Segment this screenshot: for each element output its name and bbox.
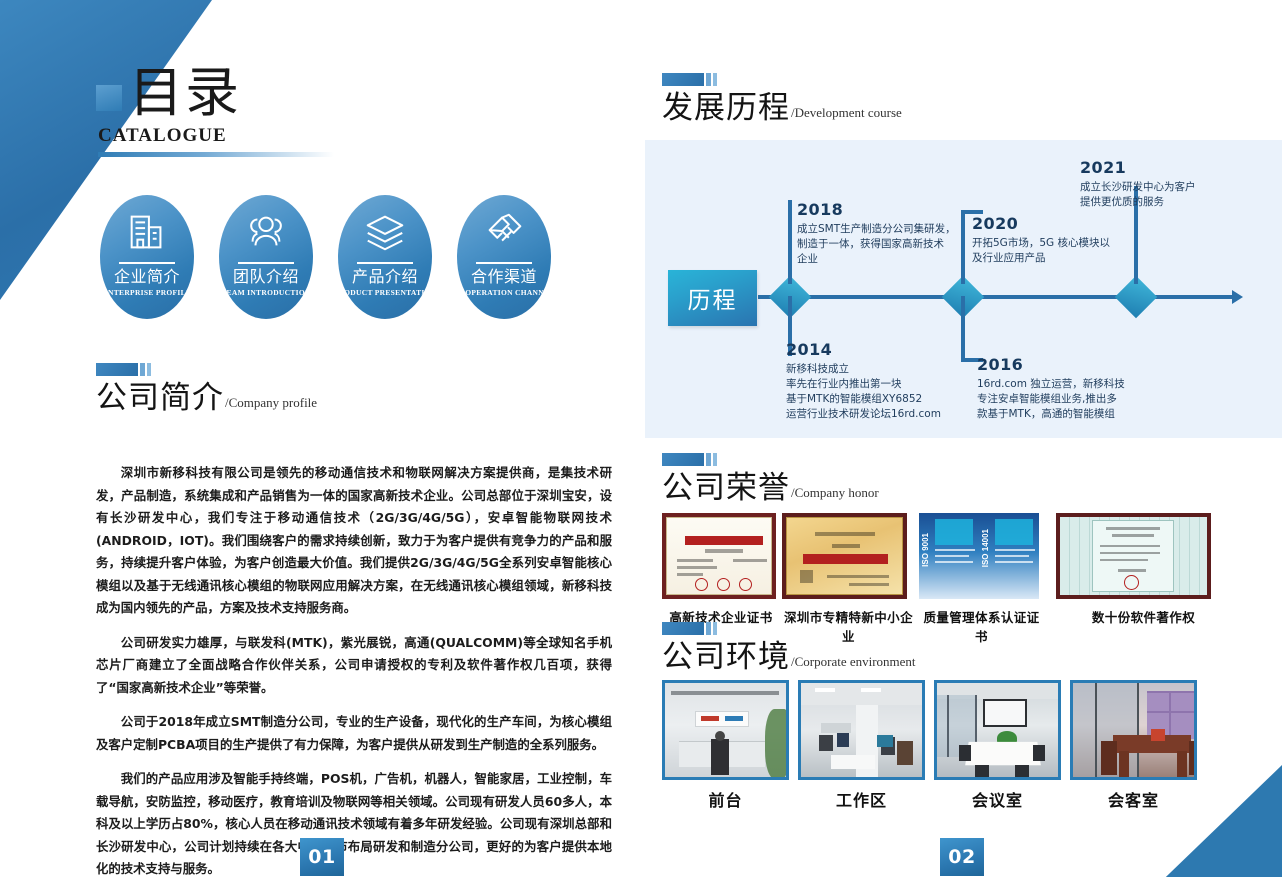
- timeline-year-2020: 2020: [972, 214, 1018, 233]
- catalogue-label-cn: 合作渠道: [471, 267, 537, 286]
- timeline-stem-up: [788, 200, 792, 284]
- timeline-stem-up: [961, 210, 965, 284]
- catalogue-item-product-presentation[interactable]: 产品介绍 PRODUCT PRESENTATION: [338, 195, 432, 319]
- environment-item[interactable]: 会客室: [1070, 680, 1197, 811]
- environment-photo-reception: [662, 680, 789, 780]
- catalogue-label-en: PRODUCT PRESENTATION: [338, 288, 432, 297]
- catalogue-square-marker: [96, 85, 122, 111]
- environment-caption: 会客室: [1070, 787, 1197, 811]
- honor-item[interactable]: ISO 9001 ISO 14001 质量管理体系认证证书: [919, 513, 1044, 645]
- team-people-icon: [243, 209, 289, 255]
- handshake-icon: [481, 209, 527, 255]
- certificate-image-high-tech: [662, 513, 776, 599]
- development-course-title-cn: 发展历程: [662, 90, 790, 126]
- company-honor-header: 公司荣誉 /Company honor: [662, 453, 879, 506]
- catalogue-label-cn: 产品介绍: [352, 267, 418, 286]
- oval-divider: [357, 262, 413, 264]
- timeline-year-2021: 2021: [1080, 158, 1126, 177]
- timeline-axis: [758, 295, 1238, 299]
- catalogue-item-cooperation-channel[interactable]: 合作渠道 COOPERATION CHANNEL: [457, 195, 551, 319]
- section-bar-decoration: [96, 363, 317, 376]
- environment-photo-guest-room: [1070, 680, 1197, 780]
- honor-item[interactable]: 高新技术企业证书: [662, 513, 780, 626]
- certificate-image-specialized-sme: [782, 513, 907, 599]
- page-number-right: 02: [940, 838, 984, 876]
- certificate-image-software-copyright: [1056, 513, 1211, 599]
- catalogue-item-list: 企业简介 ENTERPRISE PROFILE 团队介绍 TEAM INTROD…: [100, 195, 551, 319]
- building-icon: [124, 209, 170, 255]
- catalogue-underline: [98, 152, 334, 157]
- timeline-desc-2020: 开拓5G市场，5G 核心模块以 及行业应用产品: [972, 236, 1122, 266]
- environment-photo-meeting-room: [934, 680, 1061, 780]
- timeline-stem-down: [961, 296, 965, 362]
- oval-divider: [119, 262, 175, 264]
- company-honor-title-en: /Company honor: [791, 485, 879, 501]
- section-bar-decoration: [662, 73, 902, 86]
- development-course-header: 发展历程 /Development course: [662, 73, 902, 126]
- timeline-year-2014: 2014: [786, 340, 832, 359]
- timeline-desc-2016: 16rd.com 独立运营，新移科技 专注安卓智能模组业务,推出多 款基于MTK…: [977, 377, 1147, 422]
- catalogue-label-cn: 企业简介: [114, 267, 180, 286]
- profile-paragraph: 公司研发实力雄厚，与联发科(MTK)，紫光展锐，高通(QUALCOMM)等全球知…: [96, 632, 612, 700]
- company-profile-title-cn: 公司简介: [96, 380, 224, 416]
- timeline-year-2016: 2016: [977, 355, 1023, 374]
- catalogue-heading: 目录 CATALOGUE: [96, 63, 396, 157]
- company-honor-title-cn: 公司荣誉: [662, 470, 790, 506]
- catalogue-item-enterprise-profile[interactable]: 企业简介 ENTERPRISE PROFILE: [100, 195, 194, 319]
- catalogue-label-en: COOPERATION CHANNEL: [457, 288, 551, 297]
- environment-photo-workspace: [798, 680, 925, 780]
- corporate-environment-title-cn: 公司环境: [662, 639, 790, 675]
- section-bar-decoration: [662, 453, 879, 466]
- catalogue-title-en: CATALOGUE: [98, 125, 396, 147]
- oval-divider: [476, 262, 532, 264]
- corporate-environment-header: 公司环境 /Corporate environment: [662, 622, 916, 675]
- honor-caption: 数十份软件著作权: [1056, 607, 1231, 626]
- catalogue-label-cn: 团队介绍: [233, 267, 299, 286]
- presentation-spread: 目录 CATALOGUE 企业简介 ENTERPRISE PROFILE: [0, 0, 1282, 877]
- company-profile-text: 深圳市新移科技有限公司是领先的移动通信技术和物联网解决方案提供商，是集技术研发，…: [96, 462, 612, 877]
- environment-caption: 工作区: [798, 787, 925, 811]
- honor-caption: 质量管理体系认证证书: [919, 607, 1044, 645]
- certificate-image-iso: ISO 9001 ISO 14001: [919, 513, 1039, 599]
- timeline-desc-2018: 成立SMT生产制造分公司集研发， 制造于一体，获得国家高新技术 企业: [797, 222, 957, 267]
- timeline-desc-2021: 成立长沙研发中心为客户 提供更优质的服务: [1080, 180, 1240, 210]
- catalogue-label-en: ENTERPRISE PROFILE: [103, 288, 192, 297]
- timeline-year-2018: 2018: [797, 200, 843, 219]
- timeline-desc-2014: 新移科技成立 率先在行业内推出第一块 基于MTK的智能模组XY6852 运营行业…: [786, 362, 971, 422]
- layers-icon: [362, 209, 408, 255]
- corporate-environment-title-en: /Corporate environment: [791, 654, 916, 670]
- honor-item[interactable]: 数十份软件著作权: [1056, 513, 1231, 626]
- page-number-left: 01: [300, 838, 344, 876]
- profile-paragraph: 我们的产品应用涉及智能手持终端，POS机，广告机，机器人，智能家居，工业控制，车…: [96, 768, 612, 877]
- section-bar-decoration: [662, 622, 916, 635]
- timeline-badge: 历程: [668, 270, 757, 326]
- environment-item[interactable]: 工作区: [798, 680, 925, 811]
- environment-item[interactable]: 前台: [662, 680, 789, 811]
- oval-divider: [238, 262, 294, 264]
- company-profile-title-en: /Company profile: [225, 395, 317, 411]
- environment-image-list: 前台 工作区: [662, 680, 1197, 811]
- environment-caption: 会议室: [934, 787, 1061, 811]
- profile-paragraph: 公司于2018年成立SMT制造分公司，专业的生产设备，现代化的生产车间，为核心模…: [96, 711, 612, 756]
- catalogue-label-en: TEAM INTRODUCTION: [221, 288, 310, 297]
- catalogue-item-team-introduction[interactable]: 团队介绍 TEAM INTRODUCTION: [219, 195, 313, 319]
- development-course-title-en: /Development course: [791, 105, 902, 121]
- environment-item[interactable]: 会议室: [934, 680, 1061, 811]
- environment-caption: 前台: [662, 787, 789, 811]
- timeline-arrow-icon: [1232, 290, 1243, 304]
- profile-paragraph: 深圳市新移科技有限公司是领先的移动通信技术和物联网解决方案提供商，是集技术研发，…: [96, 462, 612, 620]
- catalogue-title-cn: 目录: [129, 63, 241, 123]
- company-profile-header: 公司简介 /Company profile: [96, 363, 317, 416]
